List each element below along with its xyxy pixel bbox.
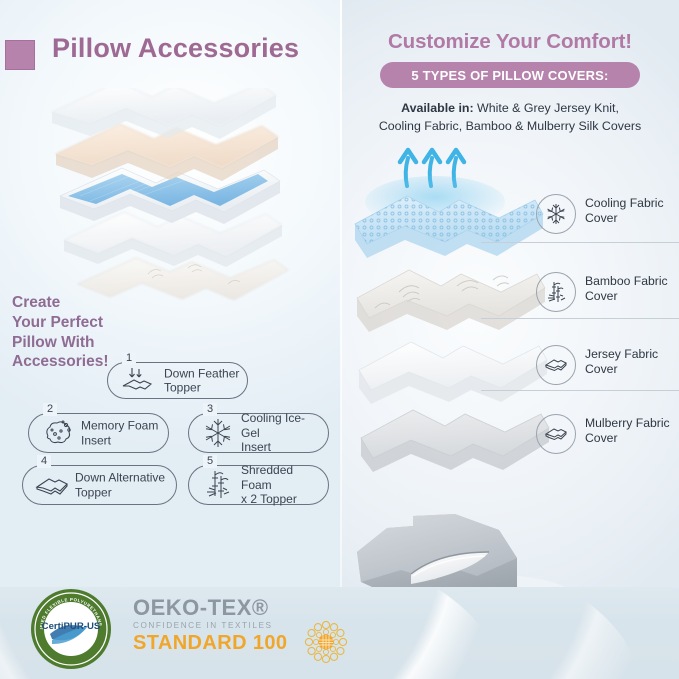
- accessory-callout-shredded-foam-topper[interactable]: 5 Shredded Foam x 2 Topper: [188, 465, 329, 505]
- cover-label-line1: Cooling Fabric: [585, 196, 664, 210]
- callout-label-line2: Topper: [164, 381, 201, 395]
- pillow-covers-badge: 5 TYPES OF PILLOW COVERS:: [341, 62, 679, 88]
- right-panel: Customize Your Comfort! 5 TYPES OF PILLO…: [341, 0, 679, 679]
- cover-label-line2: Cover: [585, 362, 618, 376]
- cover-label-line1: Jersey Fabric: [585, 347, 658, 361]
- callout-label-line2: Insert: [81, 433, 111, 447]
- down-feather-topper-icon: [118, 364, 156, 398]
- down-alternative-topper-icon: [33, 468, 71, 502]
- subtitle-line-1: Create: [12, 293, 142, 313]
- subtitle-line-2: Your Perfect: [12, 313, 142, 333]
- cover-label-line2: Cover: [585, 211, 618, 225]
- callout-label-line2: Insert: [241, 440, 271, 454]
- cover-layer-jersey-fabric: [359, 342, 547, 404]
- available-in-prefix: Available in:: [401, 101, 474, 115]
- cover-label-text: Bamboo Fabric Cover: [585, 274, 679, 305]
- callout-label-line2: Topper: [75, 485, 112, 499]
- cover-label-line1: Bamboo Fabric: [585, 274, 668, 288]
- accessory-callout-cooling-ice-gel-insert[interactable]: 3 Cooling Ice-Gel Insert: [188, 413, 329, 453]
- callout-label-line2: x 2 Topper: [241, 492, 297, 506]
- memory-foam-icon: [39, 416, 77, 450]
- callout-label: Down Feather Topper: [164, 366, 245, 395]
- callout-label: Memory Foam Insert: [81, 418, 162, 447]
- certipur-us-logo: CERTIFIED FLEXIBLE POLYURETHANE FOAM WWW…: [30, 588, 112, 670]
- page-title: Pillow Accessories: [52, 33, 337, 64]
- stack-layer-white-top: [52, 88, 276, 139]
- callout-number: 5: [203, 455, 217, 468]
- certipur-wordmark: CertiPUR-US: [42, 621, 101, 632]
- certipur-us-badge: CERTIFIED FLEXIBLE POLYURETHANE FOAM WWW…: [30, 588, 112, 670]
- oeko-tex-standard-100-logo: OEKO-TEX® CONFIDENCE IN TEXTILES STANDAR…: [133, 597, 343, 663]
- leader-line-cooling: [481, 242, 679, 243]
- bamboo-shred-icon: [199, 468, 237, 502]
- callout-label: Shredded Foam x 2 Topper: [241, 463, 322, 507]
- subtitle-line-3: Pillow With: [12, 333, 142, 353]
- leader-line-bamboo: [481, 318, 679, 319]
- available-in-text: Available in: White & Grey Jersey Knit, …: [349, 100, 671, 135]
- callout-number: 2: [43, 403, 57, 416]
- cover-label-line2: Cover: [585, 431, 618, 445]
- callout-label-line1: Shredded Foam: [241, 463, 293, 492]
- snowflake-icon: [536, 194, 576, 234]
- callout-label-line1: Cooling Ice-Gel: [241, 411, 305, 440]
- accessory-callout-down-feather-topper[interactable]: 1 Down Feather Topper: [107, 362, 248, 399]
- fabric-sheet-icon: [536, 345, 576, 385]
- cover-label-line2: Cover: [585, 289, 618, 303]
- cover-label-text: Cooling Fabric Cover: [585, 196, 679, 227]
- right-panel-title: Customize Your Comfort!: [341, 30, 679, 54]
- callout-number: 4: [37, 455, 51, 468]
- snowflake-icon: [199, 416, 237, 450]
- leader-line-jersey: [481, 390, 679, 391]
- callout-label: Down Alternative Topper: [75, 470, 170, 499]
- oeko-tex-brand: OEKO-TEX®: [133, 597, 343, 619]
- accessory-callout-down-alternative-topper[interactable]: 4 Down Alternative Topper: [22, 465, 177, 505]
- cover-label-text: Mulberry Fabric Cover: [585, 416, 679, 447]
- callout-label-line1: Down Feather: [164, 366, 239, 380]
- cover-layer-mulberry-fabric: [361, 410, 549, 472]
- available-in-line1: White & Grey Jersey Knit,: [474, 101, 619, 115]
- purple-square-accent: [5, 40, 35, 70]
- cover-label-line1: Mulberry Fabric: [585, 416, 670, 430]
- badge-label: 5 TYPES OF PILLOW COVERS:: [341, 62, 679, 88]
- fabric-sheet-icon: [536, 414, 576, 454]
- bamboo-icon: [536, 272, 576, 312]
- callout-number: 3: [203, 403, 217, 416]
- callout-label-line1: Down Alternative: [75, 470, 165, 484]
- callout-label-line1: Memory Foam: [81, 418, 158, 432]
- available-in-line2: Cooling Fabric, Bamboo & Mulberry Silk C…: [379, 119, 641, 133]
- infographic-root: Pillow Accessories: [0, 0, 679, 679]
- panel-divider: [340, 0, 342, 679]
- oeko-tex-flower-icon: [303, 619, 349, 665]
- cover-layer-bamboo-fabric: [357, 270, 545, 332]
- cover-label-text: Jersey Fabric Cover: [585, 347, 679, 378]
- callout-label: Cooling Ice-Gel Insert: [241, 411, 322, 455]
- left-panel: Pillow Accessories: [0, 0, 341, 679]
- accessory-callout-memory-foam-insert[interactable]: 2 Memory Foam Insert: [28, 413, 169, 453]
